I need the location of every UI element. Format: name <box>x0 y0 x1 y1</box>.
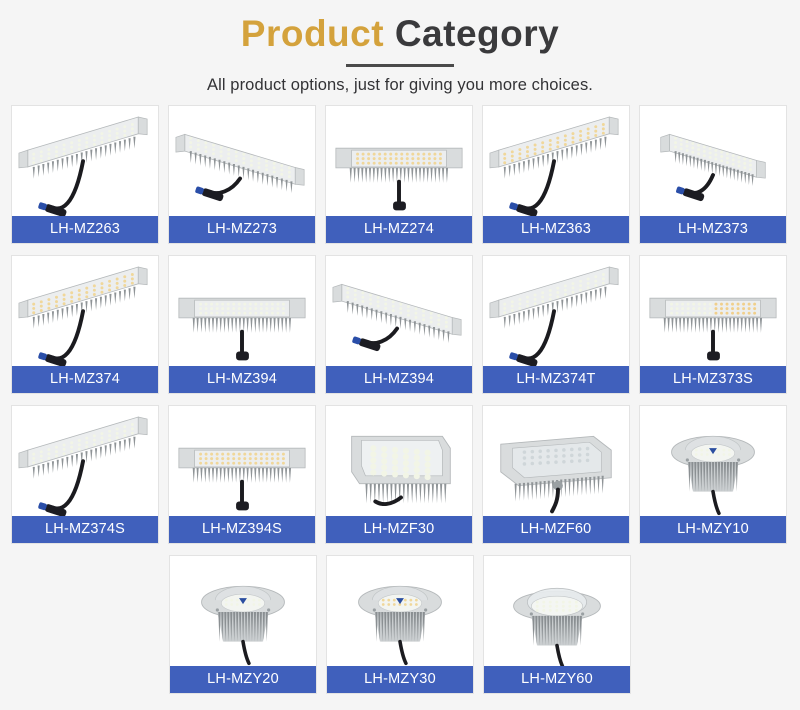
product-card[interactable]: LH-MZ373 <box>639 105 787 244</box>
product-card[interactable]: LH-MZ374 <box>11 255 159 394</box>
led-module-icon <box>12 406 158 516</box>
led-module-icon <box>327 556 473 666</box>
product-label[interactable]: LH-MZ374T <box>483 366 629 393</box>
led-module-icon <box>12 256 158 366</box>
product-card[interactable]: LH-MZY60 <box>483 555 631 694</box>
led-module-icon <box>483 106 629 216</box>
led-module-icon <box>326 106 472 216</box>
product-image <box>12 256 158 366</box>
product-label[interactable]: LH-MZF30 <box>326 516 472 543</box>
product-label[interactable]: LH-MZ394 <box>326 366 472 393</box>
product-label[interactable]: LH-MZ373 <box>640 216 786 243</box>
product-label[interactable]: LH-MZY60 <box>484 666 630 693</box>
led-module-icon <box>12 106 158 216</box>
product-card[interactable]: LH-MZ363 <box>482 105 630 244</box>
product-label[interactable]: LH-MZ373S <box>640 366 786 393</box>
product-card[interactable]: LH-MZ374S <box>11 405 159 544</box>
product-image <box>12 406 158 516</box>
led-module-icon <box>640 256 786 366</box>
product-label[interactable]: LH-MZ374S <box>12 516 158 543</box>
product-card[interactable]: LH-MZF60 <box>482 405 630 544</box>
page-title-gold: Product <box>241 13 384 54</box>
product-card[interactable]: LH-MZ394S <box>168 405 316 544</box>
product-image <box>640 106 786 216</box>
product-image <box>640 256 786 366</box>
product-image <box>640 406 786 516</box>
product-label[interactable]: LH-MZ273 <box>169 216 315 243</box>
product-card[interactable]: LH-MZ273 <box>168 105 316 244</box>
product-label[interactable]: LH-MZF60 <box>483 516 629 543</box>
product-card[interactable]: LH-MZY20 <box>169 555 317 694</box>
led-module-icon <box>484 556 630 666</box>
product-image <box>483 256 629 366</box>
product-label[interactable]: LH-MZY20 <box>170 666 316 693</box>
product-grid: LH-MZ263LH-MZ273LH-MZ274LH-MZ363LH-MZ373… <box>0 105 800 694</box>
led-module-icon <box>640 106 786 216</box>
product-label[interactable]: LH-MZ394 <box>169 366 315 393</box>
product-label[interactable]: LH-MZ363 <box>483 216 629 243</box>
product-image <box>484 556 630 666</box>
led-module-icon <box>170 556 316 666</box>
product-label[interactable]: LH-MZY30 <box>327 666 473 693</box>
product-image <box>326 106 472 216</box>
product-image <box>12 106 158 216</box>
product-card[interactable]: LH-MZY10 <box>639 405 787 544</box>
product-card[interactable]: LH-MZ263 <box>11 105 159 244</box>
product-row: LH-MZ263LH-MZ273LH-MZ274LH-MZ363LH-MZ373 <box>11 105 789 244</box>
product-label[interactable]: LH-MZ274 <box>326 216 472 243</box>
product-label[interactable]: LH-MZ374 <box>12 366 158 393</box>
product-row: LH-MZY20LH-MZY30LH-MZY60 <box>11 555 789 694</box>
product-card[interactable]: LH-MZF30 <box>325 405 473 544</box>
product-card[interactable]: LH-MZ374T <box>482 255 630 394</box>
product-image <box>170 556 316 666</box>
led-module-icon <box>326 256 472 366</box>
product-label[interactable]: LH-MZY10 <box>640 516 786 543</box>
product-row: LH-MZ374LH-MZ394LH-MZ394LH-MZ374TLH-MZ37… <box>11 255 789 394</box>
led-module-icon <box>483 406 629 516</box>
product-image <box>326 406 472 516</box>
product-image <box>169 256 315 366</box>
product-image <box>327 556 473 666</box>
product-image <box>169 406 315 516</box>
page-title: Product Category <box>0 12 800 56</box>
led-module-icon <box>169 406 315 516</box>
title-divider <box>346 64 454 67</box>
product-image <box>483 106 629 216</box>
product-card[interactable]: LH-MZ373S <box>639 255 787 394</box>
led-module-icon <box>483 256 629 366</box>
led-module-icon <box>169 256 315 366</box>
product-image <box>326 256 472 366</box>
led-module-icon <box>326 406 472 516</box>
product-card[interactable]: LH-MZ394 <box>325 255 473 394</box>
led-module-icon <box>169 106 315 216</box>
product-card[interactable]: LH-MZY30 <box>326 555 474 694</box>
product-row: LH-MZ374SLH-MZ394SLH-MZF30LH-MZF60LH-MZY… <box>11 405 789 544</box>
product-card[interactable]: LH-MZ274 <box>325 105 473 244</box>
product-image <box>483 406 629 516</box>
product-label[interactable]: LH-MZ263 <box>12 216 158 243</box>
product-label[interactable]: LH-MZ394S <box>169 516 315 543</box>
led-module-icon <box>640 406 786 516</box>
page-title-dark: Category <box>395 13 559 54</box>
product-image <box>169 106 315 216</box>
product-category-page: Product Category All product options, ju… <box>0 0 800 710</box>
product-card[interactable]: LH-MZ394 <box>168 255 316 394</box>
page-header: Product Category All product options, ju… <box>0 0 800 95</box>
page-subtitle: All product options, just for giving you… <box>0 76 800 95</box>
